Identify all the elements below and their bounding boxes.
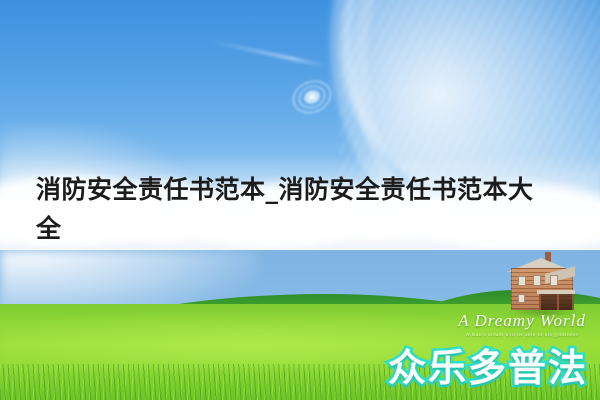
- house-porch: [539, 292, 573, 310]
- house-window: [518, 276, 526, 286]
- house-porch-post: [557, 294, 559, 310]
- page-title: 消防安全责任书范本_消防安全责任书范本大 全: [36, 170, 570, 248]
- brand-watermark: 众乐多普法: [388, 346, 588, 390]
- page-title-line-2: 全: [36, 209, 570, 248]
- house-porch-post: [539, 294, 541, 310]
- house-porch-post: [572, 294, 574, 310]
- dreamy-world-subtitle: A man's dream will be able to his greatn…: [452, 333, 592, 338]
- page-title-line-1: 消防安全责任书范本_消防安全责任书范本大: [36, 170, 570, 209]
- house-window: [518, 294, 525, 303]
- light-streak-decoration: [209, 40, 327, 68]
- house-window: [550, 275, 558, 286]
- house-window: [533, 275, 541, 286]
- house-porch-roof: [537, 290, 575, 294]
- article-thumbnail-card: A Dreamy World A man's dream will be abl…: [0, 0, 600, 400]
- wooden-farmhouse-icon: [505, 252, 583, 314]
